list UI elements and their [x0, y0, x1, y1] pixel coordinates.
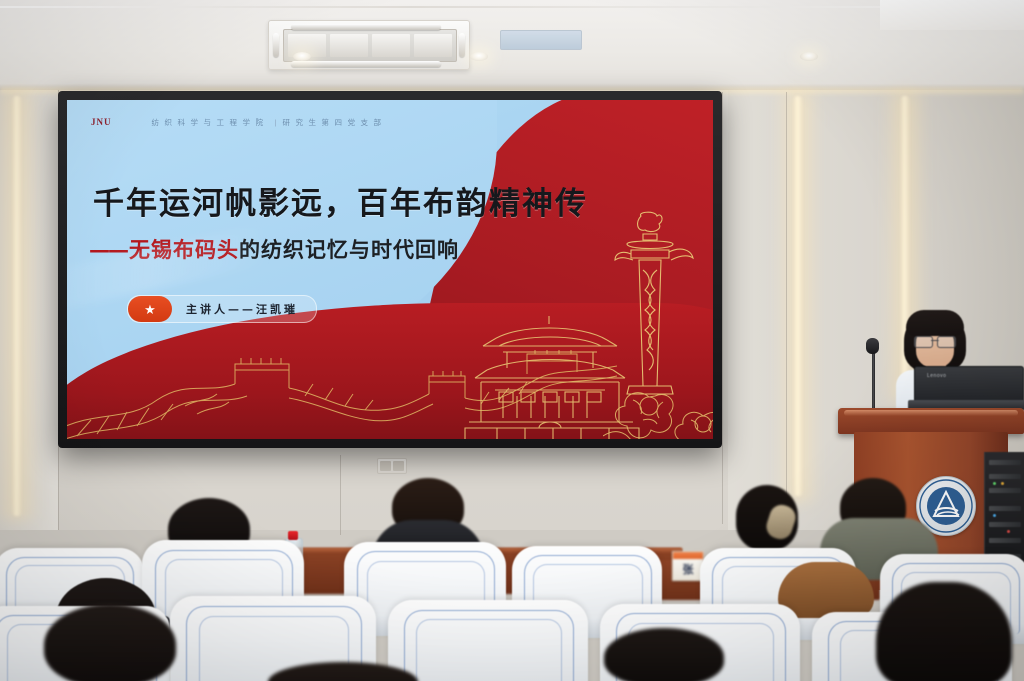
wall-seam: [340, 455, 341, 535]
laptop-lid: Lenovo: [914, 366, 1024, 404]
presenter-fringe: [906, 310, 964, 336]
slide-header-divider: |: [275, 118, 277, 127]
slide-header: JNU 纺织科学与工程学院 | 研究生第四党支部: [91, 114, 689, 130]
air-vent-panel: [500, 30, 582, 50]
slide-header-institution: 纺织科学与工程学院: [152, 117, 269, 128]
ac-louver-right: [459, 33, 465, 57]
microphone-icon: [866, 338, 879, 354]
audience-head: [876, 582, 1012, 681]
audience-head: [604, 628, 724, 681]
slide-surface: JNU 纺织科学与工程学院 | 研究生第四党支部 千年运河帆影远，百年布韵精神传…: [67, 100, 713, 439]
jnu-logo: JNU: [91, 117, 112, 127]
conference-room-photo: JNU 纺织科学与工程学院 | 研究生第四党支部 千年运河帆影远，百年布韵精神传…: [0, 0, 1024, 681]
wall-outlet: [377, 458, 407, 474]
laptop[interactable]: Lenovo: [908, 366, 1024, 412]
chair: [388, 600, 588, 681]
speaker-label: 主讲人——汪凯璀: [172, 301, 316, 317]
star-icon: ★: [128, 296, 172, 322]
ac-louver-bottom: [291, 61, 441, 67]
downlight-icon: [470, 52, 488, 61]
bottle-cap: [288, 531, 298, 540]
wall-seam: [786, 92, 787, 522]
projection-screen: JNU 纺织科学与工程学院 | 研究生第四党支部 千年运河帆影远，百年布韵精神传…: [58, 91, 722, 448]
led-strip-right-1: [793, 96, 803, 496]
led-strip-left: [12, 96, 22, 516]
audience-head: [44, 604, 176, 681]
lectern-top: [838, 408, 1024, 434]
ac-louver-top: [291, 24, 441, 30]
glasses-icon: [914, 336, 956, 346]
laptop-brand: Lenovo: [927, 373, 946, 379]
ac-grill: [288, 34, 452, 57]
ceiling-drop-panel: [880, 0, 1024, 30]
slide-title: 千年运河帆影远，百年布韵精神传: [93, 178, 593, 223]
placard-band: [673, 552, 703, 559]
ceiling-seam: [0, 6, 1024, 8]
speaker-badge: ★ 主讲人——汪凯璀: [127, 295, 317, 323]
placard-text: 张: [673, 561, 703, 577]
downlight-icon: [293, 52, 311, 61]
downlight-icon: [800, 52, 818, 61]
slide-subtitle-rest: 的纺织记忆与时代回响: [239, 237, 459, 262]
lectern-top-highlight: [844, 410, 1018, 416]
air-conditioner-unit: [268, 20, 470, 70]
ac-louver-left: [273, 33, 279, 57]
wall-seam: [722, 92, 723, 524]
slide-header-unit: 研究生第四党支部: [282, 117, 386, 128]
